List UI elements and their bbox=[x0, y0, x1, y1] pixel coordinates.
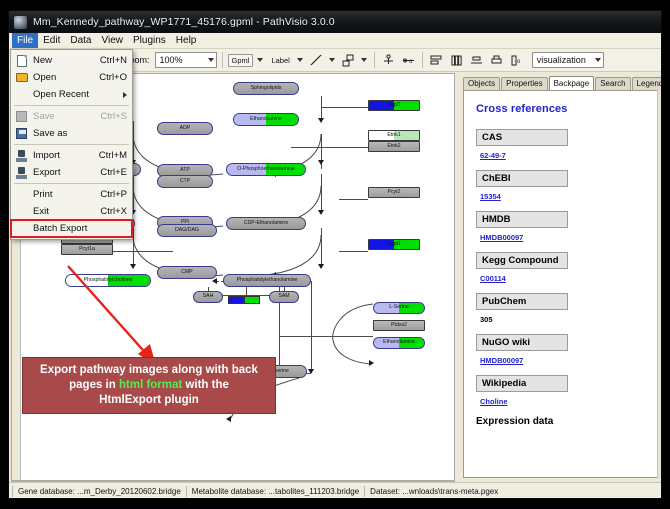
legend-chip-blue bbox=[228, 296, 244, 304]
edge-ptdss2-stem bbox=[279, 336, 313, 337]
menu-item-exit-accel: Ctrl+X bbox=[100, 206, 132, 217]
menu-file[interactable]: File bbox=[12, 33, 38, 48]
zoom-combo[interactable]: 100% bbox=[155, 52, 217, 68]
arrowhead-sphingo bbox=[318, 118, 324, 123]
toolbar-divider-2 bbox=[374, 52, 375, 68]
menu-item-save: Save Ctrl+S bbox=[11, 108, 132, 125]
visualization-combo[interactable]: visualization bbox=[532, 52, 604, 68]
panel-scrollbar[interactable] bbox=[657, 90, 661, 478]
callout-highlight: html format bbox=[119, 379, 182, 391]
align-icon[interactable]: o bbox=[400, 52, 417, 69]
arrowhead-pc bbox=[212, 278, 217, 284]
callout-line-2a: pages in bbox=[69, 379, 119, 391]
xref-value-cas[interactable]: 62-49-7 bbox=[480, 151, 649, 160]
menu-item-exit[interactable]: Exit Ctrl+X bbox=[11, 203, 132, 220]
blank-icon-3 bbox=[14, 205, 29, 219]
export-icon bbox=[14, 166, 29, 180]
xref-value-pubchem: 305 bbox=[480, 315, 649, 324]
menu-item-open-accel: Ctrl+O bbox=[99, 72, 132, 83]
node-cdp-ethanolamine[interactable]: CDP-Ethanolamine bbox=[226, 217, 306, 230]
menu-plugins[interactable]: Plugins bbox=[128, 33, 171, 48]
node-sam[interactable]: SAM bbox=[269, 291, 299, 303]
node-gene-sgpl1[interactable]: Sgpl1 bbox=[368, 100, 420, 111]
legend-chip-green bbox=[244, 296, 260, 304]
xref-header-pubchem: PubChem bbox=[476, 293, 568, 310]
stack-icon[interactable] bbox=[468, 52, 485, 69]
xref-value-wikipedia[interactable]: Choline bbox=[480, 397, 649, 406]
status-dataset: Dataset: ...wnloads\trans-meta.pgex bbox=[365, 487, 503, 496]
menu-bar: File Edit Data View Plugins Help bbox=[9, 33, 661, 49]
edge-to-ptdss2 bbox=[311, 336, 373, 337]
node-phosphatidylethanolamine[interactable]: Phosphatidylethanolamine bbox=[223, 274, 311, 287]
cross-references-heading: Cross references bbox=[476, 103, 649, 115]
screenshot-root: Mm_Kennedy_pathway_WP1771_45176.gpml - P… bbox=[0, 0, 670, 509]
menu-item-open-label: Open bbox=[33, 72, 99, 83]
node-adp[interactable]: ADP bbox=[157, 122, 213, 135]
group-icon[interactable] bbox=[428, 52, 445, 69]
tab-properties[interactable]: Properties bbox=[501, 77, 547, 91]
line-icon[interactable] bbox=[308, 52, 325, 69]
distribute-icon[interactable] bbox=[448, 52, 465, 69]
window-title: Mm_Kennedy_pathway_WP1771_45176.gpml - P… bbox=[33, 16, 335, 28]
chevron-down-icon bbox=[208, 58, 214, 62]
menu-item-save-label: Save bbox=[33, 111, 100, 122]
edge-to-pcyt2 bbox=[339, 199, 368, 200]
menu-item-import-label: Import bbox=[33, 150, 99, 161]
title-bar: Mm_Kennedy_pathway_WP1771_45176.gpml - P… bbox=[9, 11, 661, 33]
edge-sphingo-down bbox=[321, 96, 322, 120]
save-as-icon bbox=[14, 127, 29, 141]
status-bar: Gene database: ...m_Derby_20120602.bridg… bbox=[9, 482, 662, 499]
new-file-icon bbox=[14, 54, 29, 68]
anchor-icon[interactable] bbox=[380, 52, 397, 69]
menu-edit[interactable]: Edit bbox=[38, 33, 65, 48]
backpage-content: Cross references CAS 62-49-7 ChEBI 15354… bbox=[463, 90, 660, 478]
arrowhead-choline-selected bbox=[226, 416, 231, 422]
node-gene-etnk2[interactable]: Etnk2 bbox=[368, 141, 420, 152]
blank-icon-2 bbox=[14, 188, 29, 202]
tab-objects[interactable]: Objects bbox=[463, 77, 500, 91]
menu-item-export-label: Export bbox=[33, 167, 100, 178]
menu-item-batch-export[interactable]: Batch Export bbox=[11, 220, 132, 237]
svg-text:o: o bbox=[517, 59, 521, 65]
blank-icon-4 bbox=[14, 222, 29, 236]
menu-item-exit-label: Exit bbox=[33, 206, 100, 217]
callout-line-1: Export pathway images along with back bbox=[40, 363, 258, 378]
svg-text:o: o bbox=[409, 59, 413, 65]
xref-value-chebi[interactable]: 15354 bbox=[480, 192, 649, 201]
line-dropdown-icon[interactable] bbox=[329, 58, 335, 62]
label-dropdown-icon[interactable] bbox=[297, 58, 303, 62]
menu-item-open-recent[interactable]: Open Recent bbox=[11, 86, 132, 103]
menu-item-new-label: New bbox=[33, 55, 100, 66]
annotation-callout: Export pathway images along with back pa… bbox=[22, 357, 276, 414]
menu-item-import-accel: Ctrl+M bbox=[99, 150, 132, 161]
datanode-dropdown-icon[interactable] bbox=[257, 58, 263, 62]
visualization-value: visualization bbox=[537, 55, 586, 65]
node-gene-pcyt2[interactable]: Pcyt2 bbox=[368, 187, 420, 198]
datanode-icon[interactable]: Gpml bbox=[228, 54, 254, 67]
zoom-value: 100% bbox=[160, 55, 183, 65]
menu-item-print-accel: Ctrl+P bbox=[100, 189, 132, 200]
menu-item-import[interactable]: Import Ctrl+M bbox=[11, 147, 132, 164]
xref-header-cas: CAS bbox=[476, 129, 568, 146]
callout-line-2: pages in html format with the bbox=[69, 378, 229, 393]
xref-value-hmdb[interactable]: HMDB00097 bbox=[480, 233, 649, 242]
menu-item-new[interactable]: New Ctrl+N bbox=[11, 52, 132, 69]
xref-header-wikipedia: Wikipedia bbox=[476, 375, 568, 392]
tab-legend[interactable]: Legend bbox=[632, 77, 662, 91]
xref-header-hmdb: HMDB bbox=[476, 211, 568, 228]
menu-item-save-as-label: Save as bbox=[33, 128, 127, 139]
toolbar-divider bbox=[222, 52, 223, 68]
panel-tabs: Objects Properties Backpage Search Legen… bbox=[463, 76, 660, 91]
shape-icon[interactable] bbox=[340, 52, 357, 69]
arrowhead-ethanolamine-low bbox=[369, 360, 374, 366]
chevron-down-icon-2 bbox=[595, 58, 601, 62]
menu-item-save-as[interactable]: Save as bbox=[11, 125, 132, 142]
shape-dropdown-icon[interactable] bbox=[361, 58, 367, 62]
edge-to-cept1 bbox=[339, 251, 368, 252]
menu-item-new-accel: Ctrl+N bbox=[100, 55, 132, 66]
menu-item-export[interactable]: Export Ctrl+E bbox=[11, 164, 132, 181]
node-l-serine[interactable]: L-Serine bbox=[373, 302, 425, 314]
node-gene-pcyt1a[interactable]: Pcyt1a bbox=[61, 244, 113, 255]
status-metabolite-database: Metabolite database: ...tabolites_111203… bbox=[187, 487, 364, 496]
save-icon bbox=[14, 110, 29, 124]
xref-header-nugo: NuGO wiki bbox=[476, 334, 568, 351]
pathvisio-window: Mm_Kennedy_pathway_WP1771_45176.gpml - P… bbox=[8, 10, 662, 499]
label-icon[interactable]: Label bbox=[268, 55, 292, 66]
node-dag[interactable]: DAG/DAG bbox=[157, 224, 217, 237]
menu-separator-1 bbox=[14, 105, 129, 106]
menu-separator-2 bbox=[14, 144, 129, 145]
edge-to-sgpl1 bbox=[321, 107, 368, 108]
status-gene-database: Gene database: ...m_Derby_20120602.bridg… bbox=[13, 487, 186, 496]
callout-line-3: HtmlExport plugin bbox=[99, 393, 199, 408]
node-sah[interactable]: SAH bbox=[193, 291, 223, 303]
side-panel: Objects Properties Backpage Search Legen… bbox=[459, 73, 661, 481]
file-menu-dropdown: New Ctrl+N Open Ctrl+O Open Recent Save … bbox=[10, 49, 133, 240]
menu-separator-3 bbox=[14, 183, 129, 184]
node-ethanolamine-low[interactable]: Ethanolamine bbox=[373, 337, 425, 349]
xref-value-kegg[interactable]: C00114 bbox=[480, 274, 649, 283]
toolbar-divider-3 bbox=[422, 52, 423, 68]
node-gene-etnk1[interactable]: Etnk1 bbox=[368, 130, 420, 141]
open-folder-icon bbox=[14, 71, 29, 85]
xref-header-chebi: ChEBI bbox=[476, 170, 568, 187]
tab-search[interactable]: Search bbox=[595, 77, 630, 91]
menu-item-export-accel: Ctrl+E bbox=[100, 167, 132, 178]
menu-item-print-label: Print bbox=[33, 189, 100, 200]
chevron-right-icon bbox=[123, 92, 127, 98]
node-gene-cept1[interactable]: Cept1 bbox=[368, 239, 420, 250]
xref-header-kegg: Kegg Compound bbox=[476, 252, 568, 269]
print-icon[interactable] bbox=[488, 52, 505, 69]
expression-data-heading: Expression data bbox=[476, 416, 649, 427]
order-icon[interactable]: o bbox=[508, 52, 525, 69]
node-ctp[interactable]: CTP bbox=[157, 175, 213, 188]
menu-data[interactable]: Data bbox=[65, 33, 96, 48]
node-gene-ptdss2[interactable]: Ptdss2 bbox=[373, 320, 425, 331]
import-icon bbox=[14, 149, 29, 163]
pathvisio-icon bbox=[14, 16, 27, 29]
menu-item-batch-export-label: Batch Export bbox=[33, 223, 132, 234]
menu-help[interactable]: Help bbox=[171, 33, 202, 48]
menu-item-print[interactable]: Print Ctrl+P bbox=[11, 186, 132, 203]
menu-item-save-accel: Ctrl+S bbox=[100, 111, 132, 122]
node-ethanolamine-top[interactable]: Ethanolamine bbox=[233, 113, 299, 126]
node-sphingolipids[interactable]: Sphingolipids bbox=[233, 82, 299, 95]
blank-icon bbox=[14, 88, 29, 102]
menu-item-open[interactable]: Open Ctrl+O bbox=[11, 69, 132, 86]
node-o-phosphoethanolamine[interactable]: O-Phosphoethanolamine bbox=[226, 163, 306, 176]
edge-pe-ps bbox=[311, 281, 312, 373]
xref-value-nugo[interactable]: HMDB00097 bbox=[480, 356, 649, 365]
menu-item-open-recent-label: Open Recent bbox=[33, 89, 123, 100]
menu-view[interactable]: View bbox=[96, 33, 128, 48]
callout-line-2b: with the bbox=[182, 379, 229, 391]
